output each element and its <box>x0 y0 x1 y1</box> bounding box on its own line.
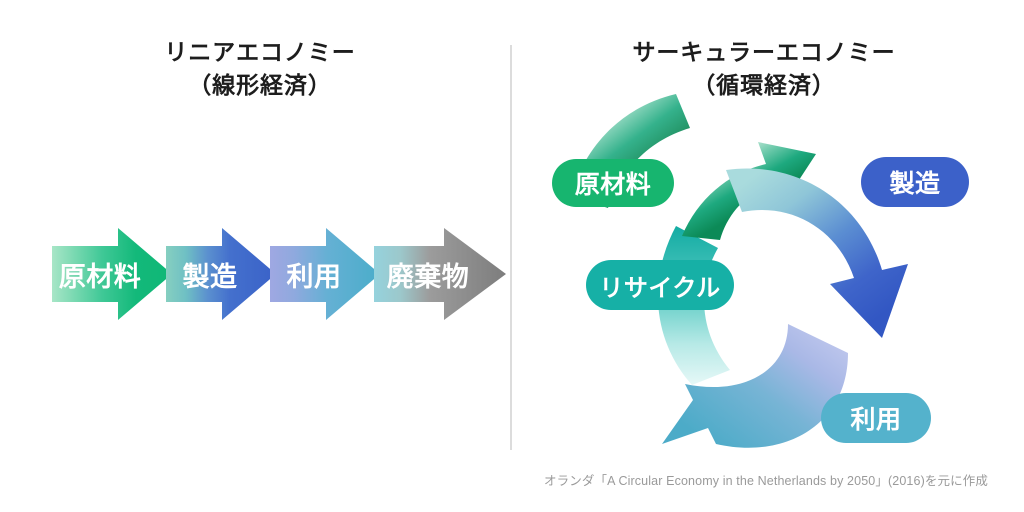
linear-step-manufacturing: 製造 <box>162 222 280 326</box>
right-title-line1: サーキュラーエコノミー <box>632 39 895 65</box>
linear-step-raw-materials: 原材料 <box>46 222 176 326</box>
linear-step-label: 原材料 <box>59 255 142 294</box>
diagram-canvas: リニアエコノミー （線形経済） サーキュラーエコノミー （循環経済） 原材料 <box>0 0 1024 512</box>
node-recycle[interactable]: リサイクル <box>586 260 734 310</box>
node-label: 製造 <box>889 164 940 200</box>
node-raw-materials[interactable]: 原材料 <box>552 159 674 207</box>
left-title-line1: リニアエコノミー <box>164 39 355 65</box>
circular-flow-group: 原材料 製造 利用 リサイクル <box>530 88 1000 458</box>
linear-step-label: 利用 <box>286 255 341 294</box>
node-label: 利用 <box>850 400 901 436</box>
linear-step-label: 廃棄物 <box>387 255 470 294</box>
node-use[interactable]: 利用 <box>821 393 931 443</box>
left-title-line2: （線形経済） <box>40 69 480 102</box>
linear-step-waste: 廃棄物 <box>370 222 510 326</box>
node-label: 原材料 <box>575 165 652 201</box>
linear-step-use: 利用 <box>266 222 384 326</box>
left-panel-title: リニアエコノミー （線形経済） <box>40 36 480 101</box>
source-credit: オランダ「A Circular Economy in the Netherlan… <box>544 470 988 489</box>
node-manufacturing[interactable]: 製造 <box>861 157 969 207</box>
linear-flow-group: 原材料 製造 利用 <box>40 222 510 326</box>
node-label: リサイクル <box>599 268 720 303</box>
linear-step-label: 製造 <box>182 255 237 294</box>
panel-divider <box>510 45 512 450</box>
